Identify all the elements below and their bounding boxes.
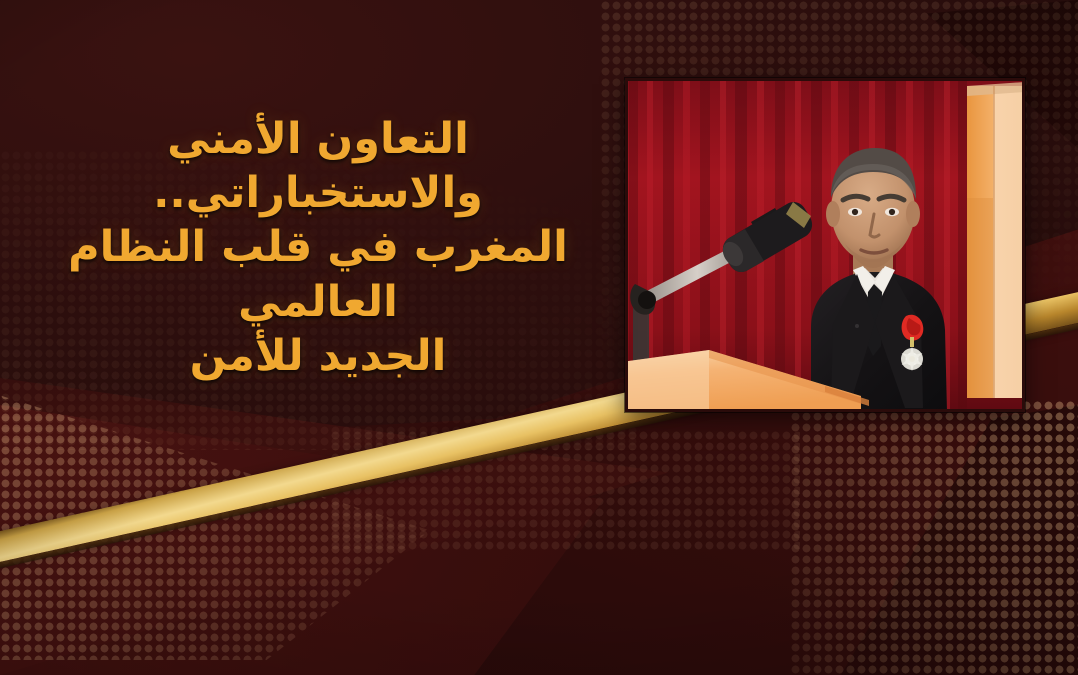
photo-wall-panel bbox=[967, 82, 1025, 398]
headline-text: التعاون الأمني والاستخباراتي.. المغرب في… bbox=[28, 112, 608, 383]
speaker-photo bbox=[625, 78, 1025, 412]
speaker-photo-illustration bbox=[625, 78, 1025, 412]
dot-pattern-bottom-right bbox=[790, 400, 1078, 675]
news-graphic-card: التعاون الأمني والاستخباراتي.. المغرب في… bbox=[0, 0, 1078, 675]
